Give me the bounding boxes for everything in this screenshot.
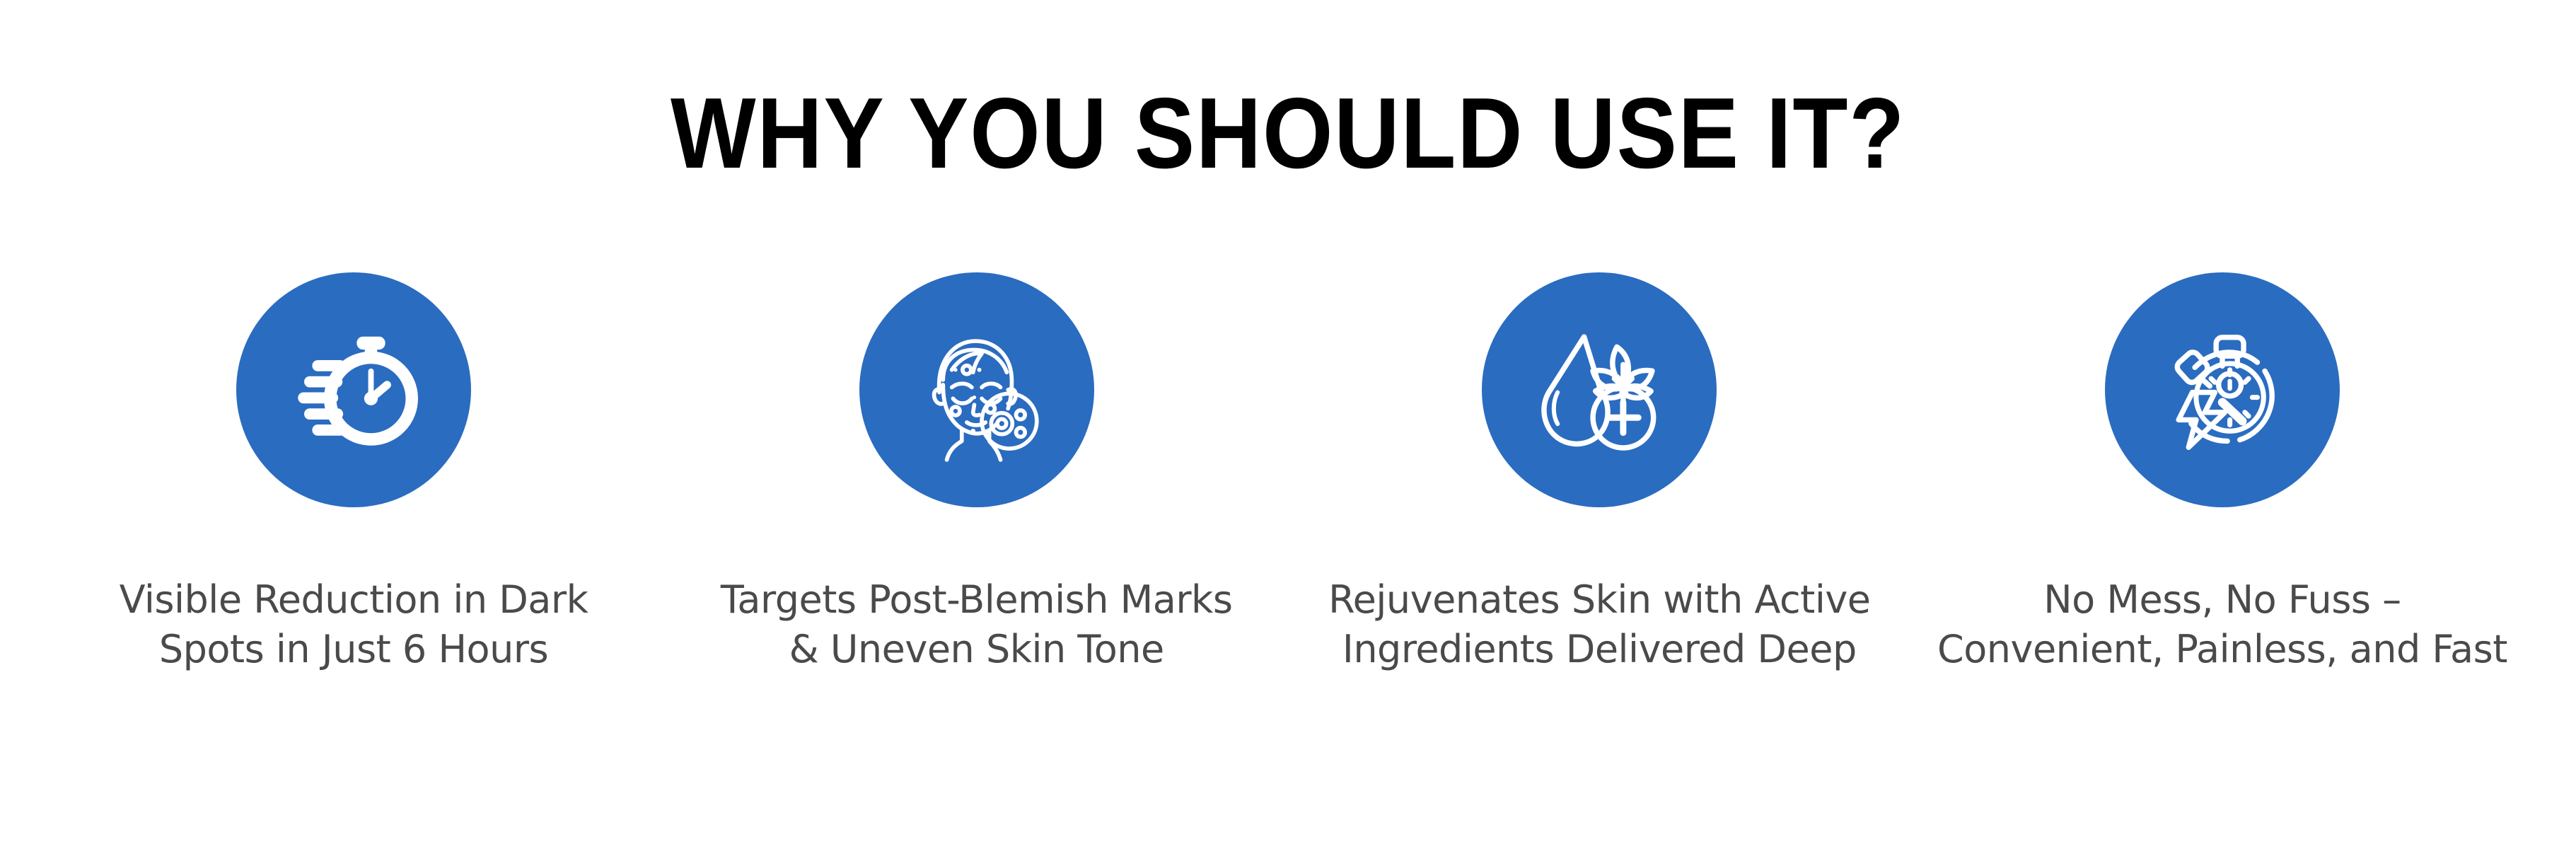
blemished-face-icon	[902, 315, 1052, 465]
page-title-container: WHY YOU SHOULD USE IT?	[0, 83, 2576, 184]
page-title: WHY YOU SHOULD USE IT?	[671, 83, 1905, 184]
feature-icon-badge-1	[236, 272, 471, 507]
feature-item-4: No Mess, No Fuss – Convenient, Painless,…	[1918, 272, 2526, 674]
feature-caption-2: Targets Post-Blemish Marks & Uneven Skin…	[673, 575, 1281, 674]
feature-list: Visible Reduction in Dark Spots in Just …	[50, 272, 2526, 674]
feature-icon-badge-2	[859, 272, 1094, 507]
feature-caption-3: Rejuvenates Skin with Active Ingredients…	[1295, 575, 1903, 674]
droplet-leaf-plus-icon	[1524, 314, 1675, 466]
stopwatch-bolt-icon	[2147, 315, 2297, 465]
feature-icon-badge-3	[1482, 272, 1717, 507]
fast-stopwatch-icon	[279, 316, 428, 464]
feature-caption-4: No Mess, No Fuss – Convenient, Painless,…	[1918, 575, 2526, 674]
feature-caption-1: Visible Reduction in Dark Spots in Just …	[50, 575, 658, 674]
feature-item-3: Rejuvenates Skin with Active Ingredients…	[1295, 272, 1903, 674]
feature-item-2: Targets Post-Blemish Marks & Uneven Skin…	[673, 272, 1281, 674]
why-you-should-use-it-section: WHY YOU SHOULD USE IT?	[0, 0, 2576, 849]
feature-item-1: Visible Reduction in Dark Spots in Just …	[50, 272, 658, 674]
feature-icon-badge-4	[2105, 272, 2340, 507]
